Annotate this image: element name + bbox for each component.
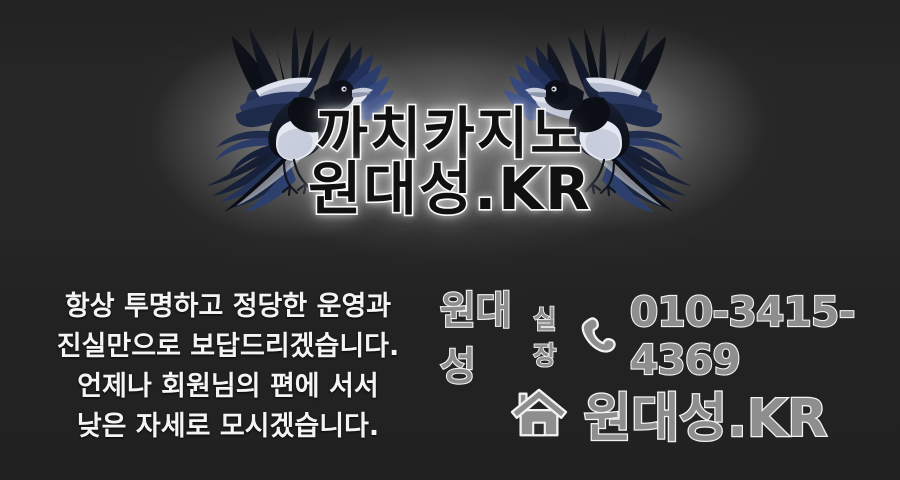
logo-line-domain: 원대성.KR bbox=[0, 162, 900, 218]
contact-site-row[interactable]: 원대성.KR bbox=[440, 372, 895, 454]
phone-number[interactable]: 010-3415-4369 bbox=[630, 288, 895, 384]
logo-line-brand: 까치카지노 bbox=[0, 108, 900, 162]
slogan-line-1: 항상 투명하고 정당한 운영과 bbox=[18, 287, 438, 327]
manager-name: 원대성 bbox=[440, 280, 525, 392]
site-logo-title: 까치카지노 원대성.KR bbox=[0, 108, 900, 217]
slogan-line-2: 진실만으로 보답드리겠습니다. bbox=[18, 327, 438, 367]
manager-title: 실장 bbox=[533, 300, 569, 372]
house-icon bbox=[508, 384, 570, 442]
contact-block: 원대성 실장 010-3415-4369 원대성.KR bbox=[440, 300, 895, 454]
slogan-block: 항상 투명하고 정당한 운영과 진실만으로 보답드리겠습니다. 언제나 회원님의… bbox=[18, 287, 438, 447]
site-domain[interactable]: 원대성.KR bbox=[584, 376, 828, 451]
slogan-line-4: 낮은 자세로 모시겠습니다. bbox=[18, 407, 438, 447]
phone-handset-icon bbox=[576, 313, 622, 359]
contact-phone-row[interactable]: 원대성 실장 010-3415-4369 bbox=[440, 300, 895, 372]
casino-promo-banner: 까치카지노 원대성.KR 항상 투명하고 정당한 운영과 진실만으로 보답드리겠… bbox=[0, 0, 900, 480]
slogan-line-3: 언제나 회원님의 편에 서서 bbox=[18, 367, 438, 407]
